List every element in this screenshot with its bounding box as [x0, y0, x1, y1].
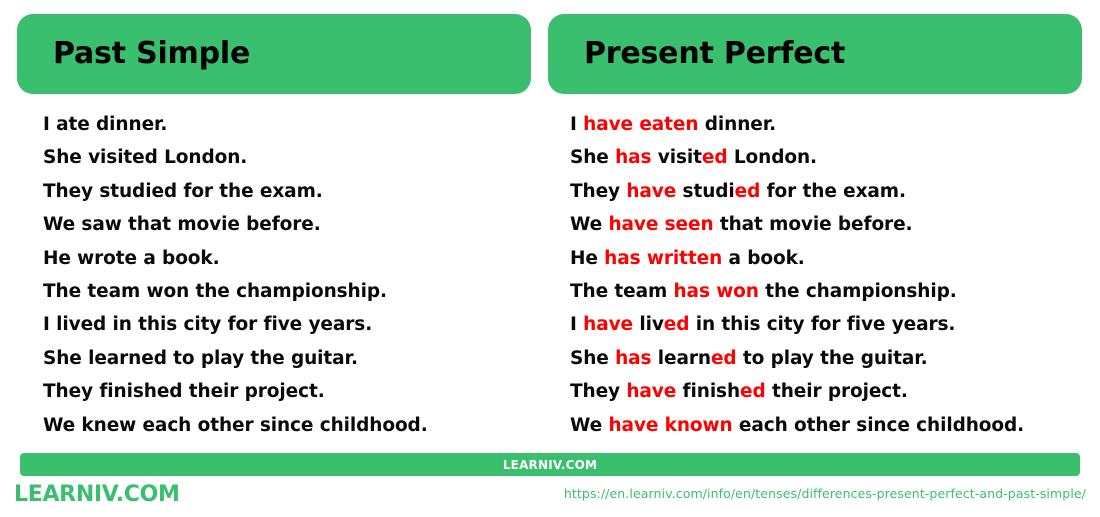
plain-text: visit	[651, 147, 701, 168]
highlighted-text: ed	[735, 181, 761, 202]
plain-text: The team won the championship.	[43, 281, 387, 302]
plain-text: each other since childhood.	[733, 415, 1024, 436]
plain-text: a book.	[722, 248, 805, 269]
plain-text: We saw that movie before.	[43, 214, 321, 235]
plain-text: They studied for the exam.	[43, 181, 323, 202]
highlighted-text: ed	[711, 348, 737, 369]
column-header-past-simple: Past Simple	[17, 14, 531, 94]
plain-text: learn	[651, 348, 711, 369]
sentence-item: She visited London.	[43, 141, 531, 174]
plain-text: the championship.	[759, 281, 957, 302]
column-title-present-perfect: Present Perfect	[584, 39, 845, 69]
comparison-board: Past Simple I ate dinner.She visited Lon…	[0, 0, 1100, 517]
plain-text: She visited London.	[43, 147, 247, 168]
sentence-item: The team has won the championship.	[570, 275, 1082, 308]
plain-text: London.	[728, 147, 817, 168]
sentence-item: We knew each other since childhood.	[43, 409, 531, 442]
plain-text: We knew each other since childhood.	[43, 415, 428, 436]
plain-text: They	[570, 181, 626, 202]
plain-text: I	[570, 114, 583, 135]
plain-text: that movie before.	[714, 214, 913, 235]
plain-text: for the exam.	[760, 181, 906, 202]
plain-text: She learned to play the guitar.	[43, 348, 358, 369]
plain-text: He	[570, 248, 604, 269]
plain-text: their project.	[766, 381, 908, 402]
sentence-item: I ate dinner.	[43, 108, 531, 141]
highlighted-text: have	[626, 381, 676, 402]
bottom-row: LEARNIV.COM https://en.learniv.com/info/…	[0, 476, 1100, 517]
sentence-item: They finished their project.	[43, 375, 531, 408]
highlighted-text: have	[626, 181, 676, 202]
plain-text: They	[570, 381, 626, 402]
plain-text: I ate dinner.	[43, 114, 167, 135]
plain-text: studi	[676, 181, 734, 202]
highlighted-text: ed	[702, 147, 728, 168]
plain-text: He wrote a book.	[43, 248, 220, 269]
plain-text: I lived in this city for five years.	[43, 314, 372, 335]
column-title-past-simple: Past Simple	[53, 39, 250, 69]
sentence-item: We saw that movie before.	[43, 208, 531, 241]
footer-bar: LEARNIV.COM	[20, 453, 1080, 476]
highlighted-text: has written	[604, 248, 722, 269]
highlighted-text: has won	[673, 281, 758, 302]
sentence-item: I have lived in this city for five years…	[570, 308, 1082, 341]
footer-bar-label: LEARNIV.COM	[503, 459, 597, 471]
sentence-item: She learned to play the guitar.	[43, 342, 531, 375]
column-header-present-perfect: Present Perfect	[548, 14, 1082, 94]
highlighted-text: has	[615, 348, 651, 369]
plain-text: to play the guitar.	[737, 348, 928, 369]
sentence-item: We have known each other since childhood…	[570, 409, 1082, 442]
plain-text: liv	[633, 314, 664, 335]
column-present-perfect: Present Perfect I have eaten dinner.She …	[548, 14, 1082, 458]
sentence-item: I lived in this city for five years.	[43, 308, 531, 341]
plain-text: She	[570, 348, 615, 369]
highlighted-text: have known	[608, 415, 732, 436]
highlighted-text: ed	[664, 314, 690, 335]
sentence-item: We have seen that movie before.	[570, 208, 1082, 241]
highlighted-text: ed	[740, 381, 766, 402]
column-past-simple: Past Simple I ate dinner.She visited Lon…	[17, 14, 531, 458]
plain-text: They finished their project.	[43, 381, 325, 402]
plain-text: The team	[570, 281, 673, 302]
sentence-item: They have finished their project.	[570, 375, 1082, 408]
sentence-item: He wrote a book.	[43, 242, 531, 275]
plain-text: We	[570, 415, 608, 436]
sentence-item: They studied for the exam.	[43, 175, 531, 208]
highlighted-text: has	[615, 147, 651, 168]
highlighted-text: have	[583, 314, 633, 335]
plain-text: finish	[676, 381, 740, 402]
source-url-link[interactable]: https://en.learniv.com/info/en/tenses/di…	[564, 488, 1086, 501]
sentence-list-past-simple: I ate dinner.She visited London.They stu…	[17, 108, 531, 442]
highlighted-text: have eaten	[583, 114, 698, 135]
plain-text: dinner.	[698, 114, 776, 135]
highlighted-text: have seen	[608, 214, 713, 235]
brand-logo: LEARNIV.COM	[14, 484, 180, 506]
sentence-item: I have eaten dinner.	[570, 108, 1082, 141]
plain-text: She	[570, 147, 615, 168]
plain-text: We	[570, 214, 608, 235]
sentence-item: They have studied for the exam.	[570, 175, 1082, 208]
sentence-item: He has written a book.	[570, 242, 1082, 275]
sentence-item: She has learned to play the guitar.	[570, 342, 1082, 375]
sentence-list-present-perfect: I have eaten dinner.She has visited Lond…	[548, 108, 1082, 442]
plain-text: I	[570, 314, 583, 335]
columns-container: Past Simple I ate dinner.She visited Lon…	[0, 0, 1100, 448]
sentence-item: She has visited London.	[570, 141, 1082, 174]
sentence-item: The team won the championship.	[43, 275, 531, 308]
plain-text: in this city for five years.	[689, 314, 955, 335]
